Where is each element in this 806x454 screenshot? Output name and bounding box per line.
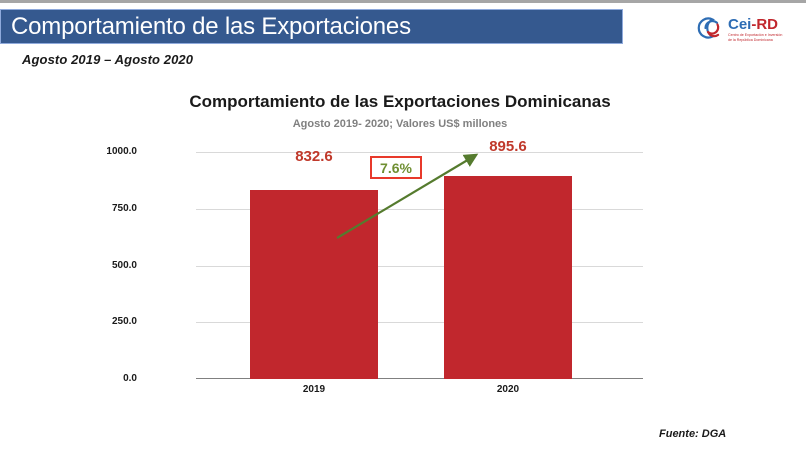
source-note: Fuente: DGA bbox=[659, 428, 726, 440]
y-tick-label-250: 250.0 bbox=[77, 316, 137, 327]
x-tick-label-2020: 2020 bbox=[444, 384, 572, 395]
top-divider bbox=[0, 0, 806, 3]
logo-wordmark: Cei-RD bbox=[728, 16, 778, 33]
chart-title: Comportamiento de las Exportaciones Domi… bbox=[140, 92, 660, 112]
bar-2020[interactable] bbox=[444, 176, 572, 379]
y-tick-label-500: 500.0 bbox=[77, 260, 137, 271]
slide-header-band: Comportamiento de las Exportaciones bbox=[0, 9, 623, 44]
bar-value-2019: 832.6 bbox=[250, 148, 378, 165]
page-title: Comportamiento de las Exportaciones bbox=[1, 14, 411, 40]
bar-2019[interactable] bbox=[250, 190, 378, 379]
chart-plot-area: 1000.0 750.0 500.0 250.0 0.0 2019 2020 bbox=[196, 152, 643, 379]
slide-period-subtitle: Agosto 2019 – Agosto 2020 bbox=[22, 52, 193, 67]
bar-value-2020: 895.6 bbox=[444, 138, 572, 155]
growth-percent-badge: 7.6% bbox=[370, 156, 422, 179]
logo-tagline-line2: de la República Dominicana bbox=[728, 38, 773, 42]
x-tick-label-2019: 2019 bbox=[250, 384, 378, 395]
exports-bar-chart: Comportamiento de las Exportaciones Domi… bbox=[140, 92, 660, 402]
logo-mark-icon bbox=[699, 19, 718, 38]
slide: Comportamiento de las Exportaciones Agos… bbox=[0, 0, 806, 454]
y-tick-label-0: 0.0 bbox=[77, 373, 137, 384]
chart-subtitle: Agosto 2019- 2020; Valores US$ millones bbox=[140, 118, 660, 130]
logo-tagline-line1: Centro de Exportación e Inversión bbox=[728, 33, 782, 37]
cei-rd-logo: Cei-RD Centro de Exportación e Inversión… bbox=[692, 11, 800, 45]
y-tick-label-750: 750.0 bbox=[77, 203, 137, 214]
y-tick-label-1000: 1000.0 bbox=[77, 146, 137, 157]
